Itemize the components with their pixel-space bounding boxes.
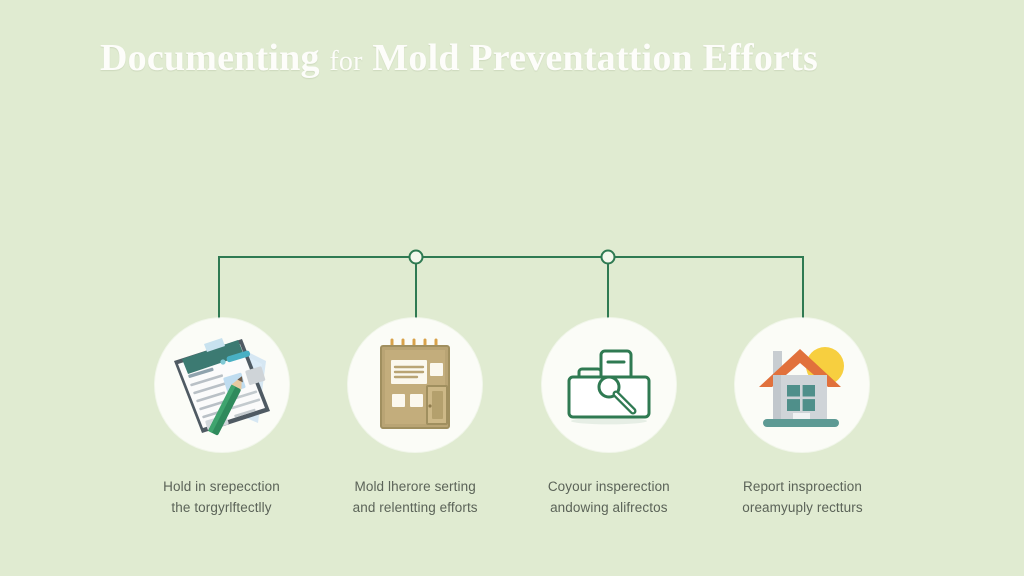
step-item-4[interactable]: Report insproection oreamyuply rectturs xyxy=(706,318,899,518)
step-caption-2-line-2: and relentting efforts xyxy=(320,497,510,518)
step-caption-4-line-1: Report insproection xyxy=(707,476,897,497)
icon-circle-2[interactable] xyxy=(348,318,482,452)
step-caption-1-line-1: Hold in srepecction xyxy=(127,476,317,497)
step-item-3[interactable]: Coyour insperection andowing alifrectos xyxy=(512,318,705,518)
step-caption-3: Coyour insperection andowing alifrectos xyxy=(514,476,704,518)
steps-row: Hold in srepecction the torgyrlftectlly xyxy=(125,318,899,548)
title-part-one: Documenting xyxy=(100,37,320,79)
step-caption-3-line-2: andowing alifrectos xyxy=(514,497,704,518)
step-caption-4-line-2: oreamyuply rectturs xyxy=(707,497,897,518)
icon-circle-1[interactable] xyxy=(155,318,289,452)
step-caption-2-line-1: Mold lherore serting xyxy=(320,476,510,497)
icon-circle-4[interactable] xyxy=(735,318,869,452)
step-item-2[interactable]: Mold lherore serting and relentting effo… xyxy=(319,318,512,518)
house-sun-icon xyxy=(753,339,851,431)
calendar-notice-board-icon xyxy=(375,338,455,432)
connector-node-1[interactable] xyxy=(410,251,423,264)
step-caption-1: Hold in srepecction the torgyrlftectlly xyxy=(127,476,317,518)
step-caption-1-line-2: the torgyrlftectlly xyxy=(127,497,317,518)
clipboard-documents-pencil-icon xyxy=(166,331,278,439)
connector-node-2[interactable] xyxy=(602,251,615,264)
title-part-small: for xyxy=(329,46,362,77)
slide-canvas: Documenting for Mold Preventattion Effor… xyxy=(0,0,1024,576)
step-caption-3-line-1: Coyour insperection xyxy=(514,476,704,497)
step-caption-2: Mold lherore serting and relentting effo… xyxy=(320,476,510,518)
step-item-1[interactable]: Hold in srepecction the torgyrlftectlly xyxy=(125,318,318,518)
folder-document-magnifier-icon xyxy=(561,343,657,427)
page-title: Documenting for Mold Preventattion Effor… xyxy=(100,31,960,89)
step-caption-4: Report insproection oreamyuply rectturs xyxy=(707,476,897,518)
title-part-two: Mold Preventattion Efforts xyxy=(372,37,818,79)
icon-circle-3[interactable] xyxy=(542,318,676,452)
